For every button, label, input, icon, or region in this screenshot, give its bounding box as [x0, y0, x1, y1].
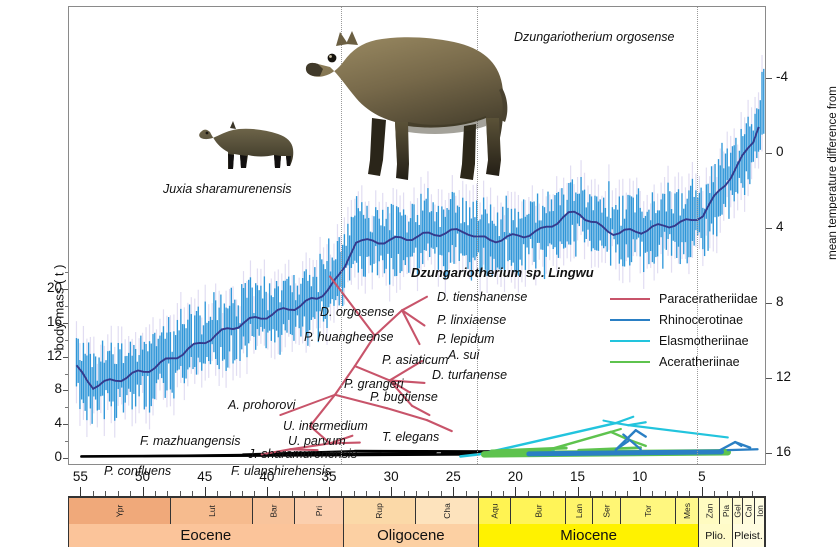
x-tick-mark-20	[515, 487, 516, 496]
stage-label: Tor	[643, 505, 653, 517]
timescale-epoch-oligocene: Oligocene	[344, 524, 479, 547]
timescale-stage-ypr: Ypr	[69, 498, 171, 524]
geologic-timescale: YprLutBarPriRupChaAquBurLanSerTorMesZanP…	[68, 497, 766, 547]
timescale-stage-ion: Ion	[755, 498, 765, 524]
timescale-stage-mes: Mes	[676, 498, 700, 524]
stage-label: Cal	[744, 505, 754, 518]
timescale-stage-lut: Lut	[171, 498, 253, 524]
timescale-stage-gel: Gel	[733, 498, 743, 524]
x-tick-mark-40	[267, 487, 268, 496]
timescale-epoch-eocene: Eocene	[69, 524, 344, 547]
x-tick-50: 50	[133, 469, 153, 484]
right-tick-16: 16	[776, 444, 791, 459]
legend-label-3: Aceratheriinae	[659, 355, 740, 369]
x-tick-mark-10	[640, 487, 641, 496]
x-tick-15: 15	[568, 469, 588, 484]
epoch-label: Oligocene	[377, 527, 445, 544]
legend-label-1: Rhinocerotinae	[659, 313, 743, 327]
taxon-label-13: T. elegans	[382, 430, 439, 444]
stage-label: Ypr	[114, 505, 124, 518]
right-tick-12: 12	[776, 369, 791, 384]
taxon-label-9: P. grangeri	[344, 377, 404, 391]
left-tick-16: 16	[38, 314, 62, 329]
taxon-label-11: A. prohorovi	[228, 398, 295, 412]
stage-label: Aqu	[490, 503, 500, 518]
juxia-sharamurenensis-illustration	[186, 108, 310, 178]
epoch-label: Plio.	[705, 530, 725, 542]
taxon-label-1: D. tienshanense	[437, 290, 527, 304]
rhinocerotinae-lineages	[529, 430, 758, 454]
taxon-label-12: U. intermedium	[283, 419, 368, 433]
illustration-caption-dzungariotherium: Dzungariotherium orgosense	[514, 30, 675, 44]
legend-swatch-0	[610, 298, 650, 300]
left-tick-4: 4	[38, 415, 62, 430]
taxon-label-7: P. asiaticum	[382, 353, 448, 367]
timescale-stage-cha: Cha	[416, 498, 479, 524]
x-tick-mark-30	[391, 487, 392, 496]
legend-item-2[interactable]: Elasmotheriinae	[610, 330, 758, 351]
taxon-label-6: A. sui	[448, 348, 479, 362]
stage-label: Bar	[269, 504, 279, 517]
timescale-stage-pia: Pia	[720, 498, 733, 524]
x-tick-30: 30	[381, 469, 401, 484]
timescale-stage-ser: Ser	[593, 498, 620, 524]
taxon-label-8: D. turfanense	[432, 368, 507, 382]
taxon-label-5: P. lepidum	[437, 332, 494, 346]
legend-swatch-2	[610, 340, 650, 342]
timescale-epoch-plio: Plio.	[699, 524, 733, 547]
taxon-label-15: F. mazhuangensis	[140, 434, 241, 448]
stage-label: Pri	[314, 506, 324, 516]
right-tick-4: 4	[776, 219, 784, 234]
x-tick-25: 25	[443, 469, 463, 484]
x-tick-mark-15	[578, 487, 579, 496]
right-tick-0: 0	[776, 144, 784, 159]
right-tick-mark-16	[766, 453, 772, 454]
right-tick-mark--4	[766, 78, 772, 79]
x-tick-mark-55	[80, 487, 81, 496]
legend-item-3[interactable]: Aceratheriinae	[610, 351, 758, 372]
x-tick-mark-25	[453, 487, 454, 496]
legend-swatch-3	[610, 361, 650, 363]
x-tick-mark-5	[702, 487, 703, 496]
left-tick-12: 12	[38, 348, 62, 363]
x-tick-mark-35	[329, 487, 330, 496]
stage-label: Lan	[574, 504, 584, 518]
stage-label: Mes	[682, 503, 692, 519]
right-tick--4: -4	[776, 69, 788, 84]
timescale-epoch-pleist: Pleist.	[733, 524, 765, 547]
right-tick-mark-0	[766, 153, 772, 154]
legend-label-0: Paraceratheriidae	[659, 292, 758, 306]
timescale-epoch-miocene: Miocene	[479, 524, 699, 547]
x-tick-45: 45	[195, 469, 215, 484]
stage-label: Rup	[374, 503, 384, 519]
taxon-label-18: F. ulanshirehensis	[231, 464, 331, 478]
epoch-label: Eocene	[180, 527, 231, 544]
x-tick-40: 40	[257, 469, 277, 484]
illustration-caption-juxia: Juxia sharamurenensis	[163, 182, 292, 196]
stage-label: Lut	[206, 505, 216, 517]
legend-swatch-1	[610, 319, 650, 321]
timescale-stage-cal: Cal	[743, 498, 756, 524]
timescale-stage-zan: Zan	[699, 498, 720, 524]
epoch-label: Miocene	[560, 527, 617, 544]
right-tick-mark-8	[766, 303, 772, 304]
taxon-label-10: P. bugtiense	[370, 390, 438, 404]
dzungariotherium-orgosense-illustration	[296, 14, 516, 198]
x-tick-10: 10	[630, 469, 650, 484]
stage-label: Bur	[533, 504, 543, 517]
timescale-stage-rup: Rup	[344, 498, 416, 524]
taxon-label-4: P. huangheense	[304, 330, 393, 344]
right-tick-mark-4	[766, 228, 772, 229]
epoch-label: Pleist.	[734, 530, 763, 542]
right-tick-8: 8	[776, 294, 784, 309]
stage-label: Cha	[442, 503, 452, 519]
timescale-stage-lan: Lan	[566, 498, 593, 524]
timescale-epoch-row: EoceneOligoceneMiocenePlio.Pleist.	[69, 524, 765, 547]
right-tick-mark-12	[766, 378, 772, 379]
taxon-label-14: U. parvum	[288, 434, 346, 448]
x-tick-5: 5	[692, 469, 712, 484]
x-tick-mark-45	[205, 487, 206, 496]
x-tick-20: 20	[505, 469, 525, 484]
epoch-boundary-miocene-pliocene	[697, 7, 698, 464]
legend: ParaceratheriidaeRhinocerotinaeElasmothe…	[610, 288, 758, 372]
stage-label: Ser	[602, 504, 612, 517]
timescale-stage-tor: Tor	[621, 498, 676, 524]
timescale-stage-bar: Bar	[253, 498, 295, 524]
stage-label: Pia	[721, 505, 731, 517]
legend-item-0[interactable]: Paraceratheriidae	[610, 288, 758, 309]
stage-label: Ion	[755, 505, 764, 517]
timescale-stage-pri: Pri	[295, 498, 343, 524]
left-tick-0: 0	[38, 449, 62, 464]
timescale-stage-row: YprLutBarPriRupChaAquBurLanSerTorMesZanP…	[69, 498, 765, 524]
taxon-label-16: J. sharamurenensis	[248, 447, 357, 461]
legend-item-1[interactable]: Rhinocerotinae	[610, 309, 758, 330]
x-tick-35: 35	[319, 469, 339, 484]
stage-label: Zan	[704, 504, 714, 519]
legend-label-2: Elasmotheriinae	[659, 334, 749, 348]
taxon-label-2: D. orgosense	[320, 305, 394, 319]
taxon-label-3: P. linxiaense	[437, 313, 506, 327]
timescale-stage-aqu: Aqu	[479, 498, 511, 524]
x-tick-55: 55	[70, 469, 90, 484]
x-tick-mark-50	[143, 487, 144, 496]
timescale-stage-bur: Bur	[511, 498, 566, 524]
left-tick-8: 8	[38, 381, 62, 396]
taxon-label-0: Dzungariotherium sp. Lingwu	[411, 265, 594, 280]
stage-label: Gel	[733, 504, 742, 517]
right-axis-label: mean temperature difference from today (…	[827, 73, 837, 273]
figure-root: body mass ( t ) 048121620 mean temperatu…	[0, 0, 837, 556]
left-tick-20: 20	[38, 280, 62, 295]
